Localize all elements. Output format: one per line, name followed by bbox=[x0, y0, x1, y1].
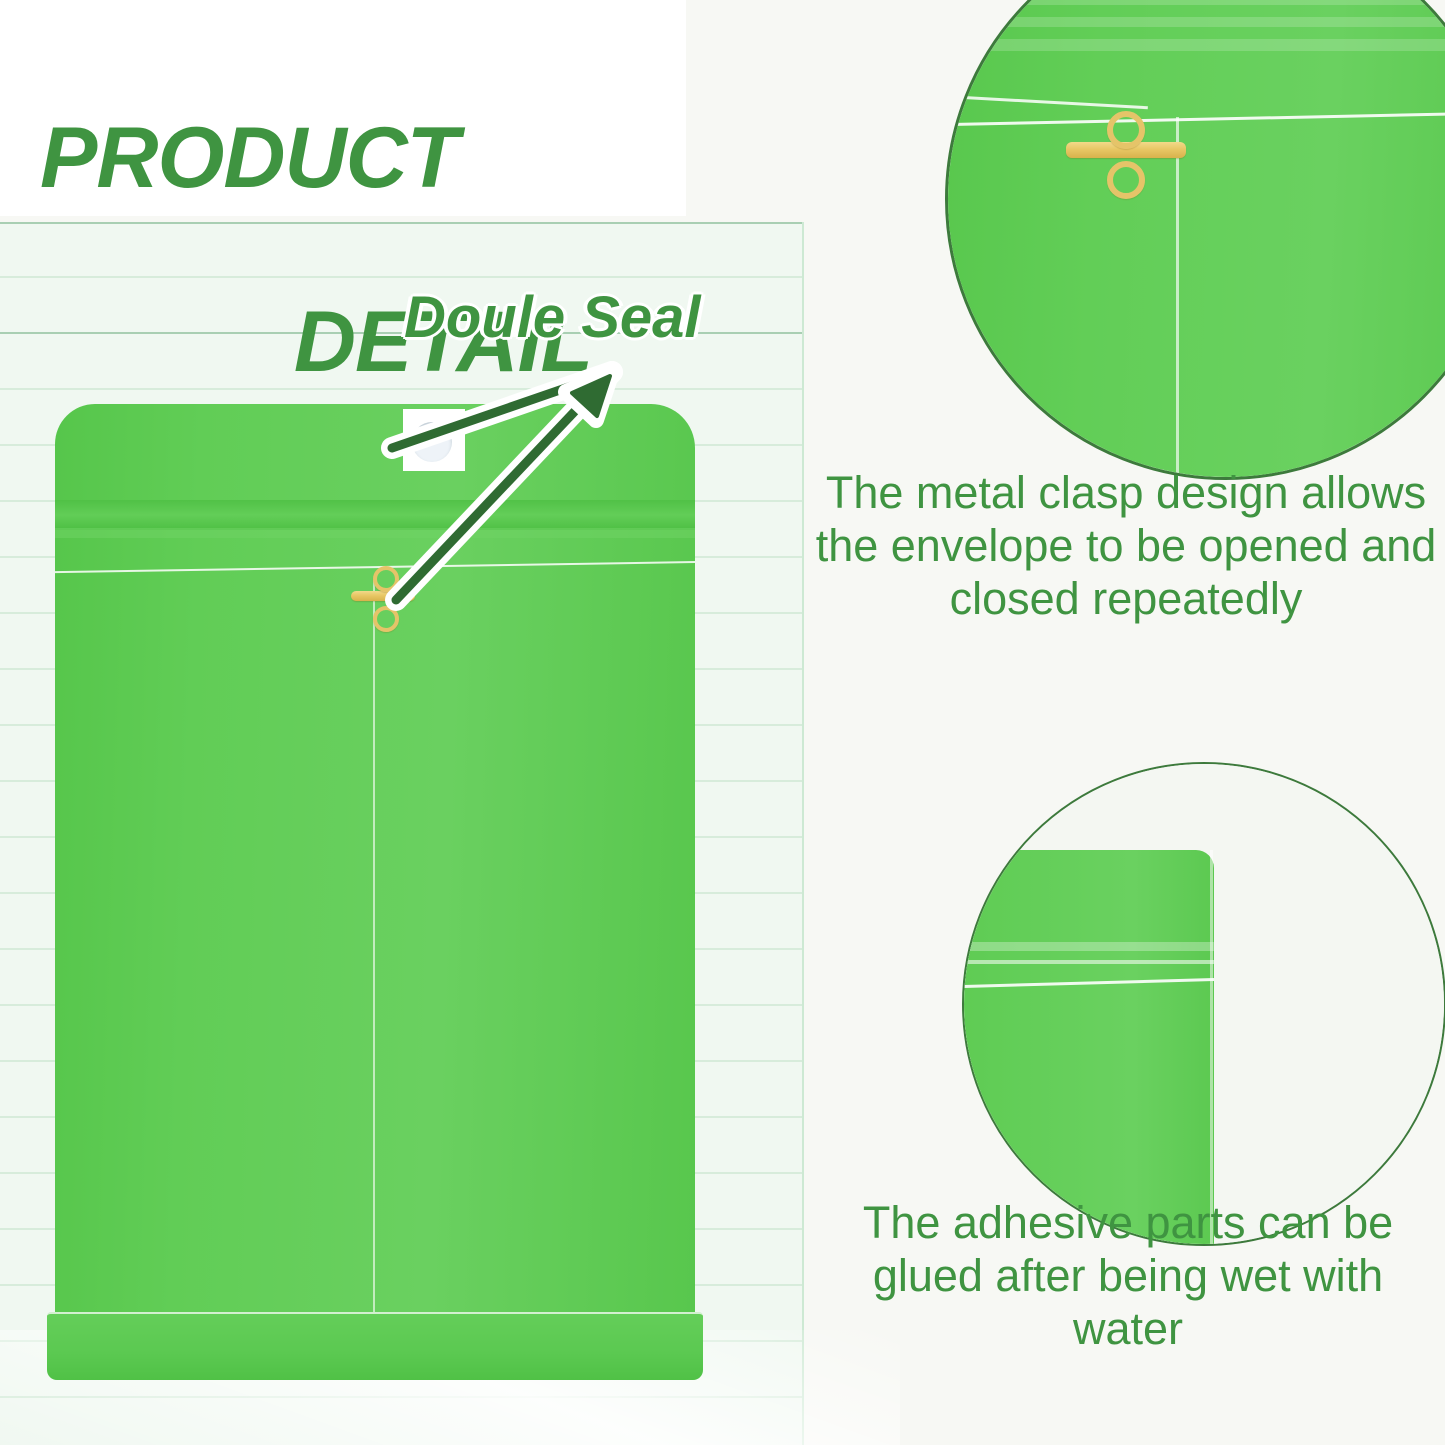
clasp-envelope bbox=[55, 404, 695, 1374]
closeup-adhesive-edge bbox=[962, 960, 1214, 964]
seal-callout-label: Doule Seal bbox=[404, 284, 701, 351]
gold-metal-clasp bbox=[351, 564, 415, 628]
adhesive-closeup-circle bbox=[962, 762, 1445, 1246]
page-title: PRODUCT DETAIL bbox=[0, 0, 640, 216]
envelope-top-flap-band bbox=[55, 500, 695, 530]
envelope-top-flap-band-2 bbox=[55, 528, 695, 538]
clasp-closeup-circle bbox=[945, 0, 1445, 480]
closeup-gold-metal-clasp bbox=[1066, 111, 1186, 187]
envelope-body bbox=[55, 404, 695, 1342]
closeup-adhesive-band bbox=[962, 942, 1214, 951]
title-block: PRODUCT DETAIL bbox=[0, 0, 686, 216]
closeup-envelope-surface bbox=[945, 0, 1445, 480]
feature-caption-adhesive: The adhesive parts can be glued after be… bbox=[812, 1196, 1444, 1355]
feature-caption-metal-clasp: The metal clasp design allows the envelo… bbox=[812, 466, 1440, 625]
envelope-center-seam bbox=[373, 580, 375, 1342]
closeup-flap-right-edge bbox=[1210, 850, 1213, 1246]
closeup-adhesive-flap bbox=[962, 850, 1214, 1246]
envelope-bottom-flap bbox=[47, 1312, 703, 1380]
envelope-punch-hole bbox=[412, 422, 452, 462]
page-title-line1: PRODUCT bbox=[40, 112, 640, 204]
product-detail-image: PRODUCT DETAIL bbox=[0, 0, 1445, 1445]
